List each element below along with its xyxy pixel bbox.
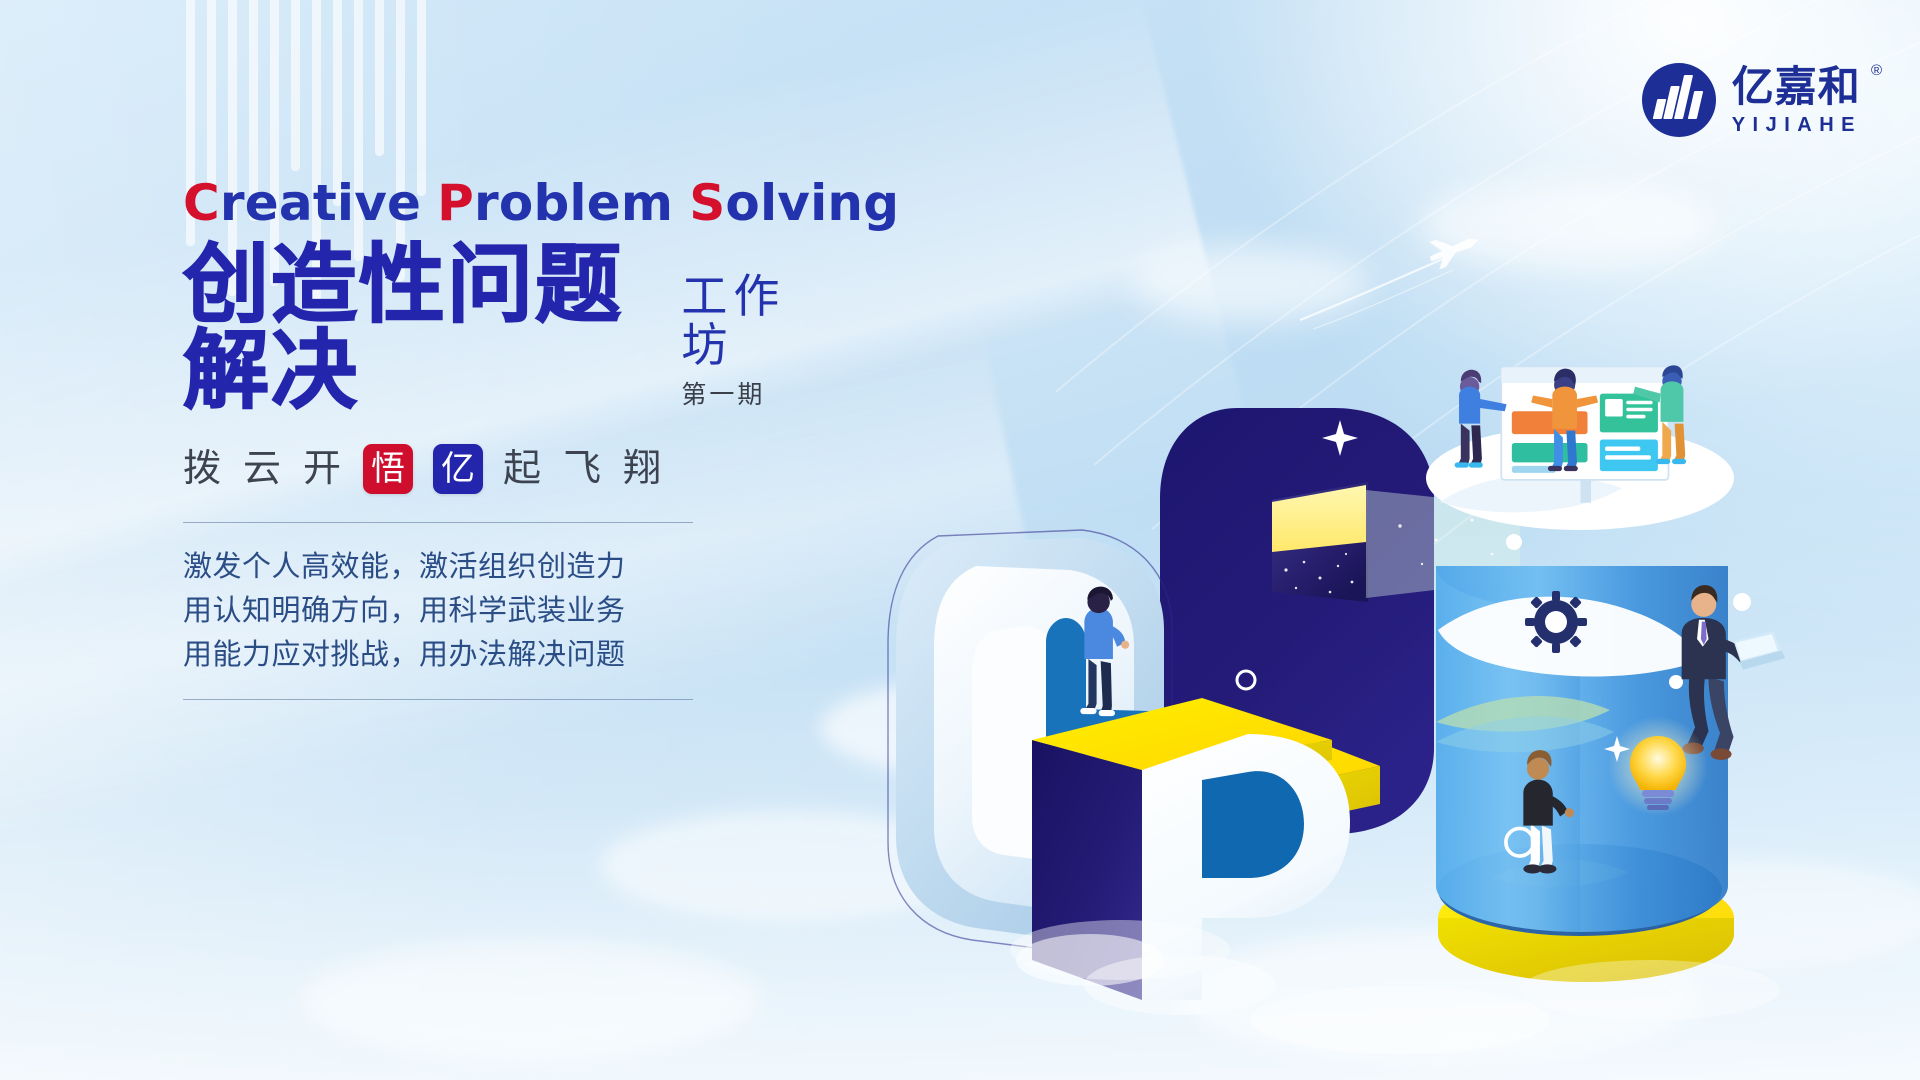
registered-trademark-icon: ® (1871, 62, 1882, 79)
chinese-subtitle-group: 工作坊 第一期 (681, 272, 803, 414)
english-title: CreativeProblemSolving (183, 178, 803, 228)
cps-isometric-illustration (880, 330, 1920, 1080)
businessman-with-laptop (1682, 585, 1786, 760)
headline-copy-block: CreativeProblemSolving 创造性问题解决 工作坊 第一期 拨… (183, 178, 803, 700)
english-word-problem: Problem (437, 174, 673, 232)
body-line: 激发个人高效能，激活组织创造力 (183, 545, 803, 589)
banner-canvas: 亿嘉和 ® YIJIAHE CreativeProblemSolving 创造性… (0, 0, 1920, 1080)
body-line: 用能力应对挑战，用办法解决问题 (183, 633, 803, 677)
body-copy: 激发个人高效能，激活组织创造力 用认知明确方向，用科学武装业务 用能力应对挑战，… (183, 545, 803, 677)
gear-icon (1525, 591, 1587, 653)
slogan-char: 翔 (623, 450, 663, 488)
logo-pinyin: YIJIAHE (1732, 115, 1862, 135)
divider-top (183, 522, 693, 523)
slogan-char: 飞 (563, 450, 603, 488)
english-word-creative: Creative (183, 174, 421, 232)
body-line: 用认知明确方向，用科学武装业务 (183, 589, 803, 633)
workshop-label: 工作坊 (681, 272, 803, 369)
yijiahe-mark-icon (1642, 63, 1716, 137)
logo-cn-name: 亿嘉和 (1732, 66, 1862, 108)
slogan-char: 拨 (183, 450, 223, 488)
brand-logo[interactable]: 亿嘉和 ® YIJIAHE (1642, 63, 1862, 137)
english-word-solving: Solving (689, 174, 899, 232)
slogan-char: 云 (243, 450, 283, 488)
laptop-icon (1734, 631, 1786, 669)
cloud-shape (300, 940, 760, 1060)
airplane-icon (1295, 232, 1485, 342)
slogan-char: 起 (503, 450, 543, 488)
slogan-line: 拨 云 开 悟 亿 起 飞 翔 (183, 444, 803, 494)
slogan-char: 开 (303, 450, 343, 488)
chinese-main-title: 创造性问题解决 (183, 242, 663, 414)
letter-s-glyph (1312, 716, 1428, 901)
chinese-title-row: 创造性问题解决 工作坊 第一期 (183, 242, 803, 414)
slogan-badge-wu: 悟 (363, 444, 413, 494)
session-label: 第一期 (681, 375, 803, 411)
divider-bottom (183, 699, 693, 700)
starfield-window (1272, 482, 1368, 602)
slogan-badge-yi: 亿 (433, 444, 483, 494)
